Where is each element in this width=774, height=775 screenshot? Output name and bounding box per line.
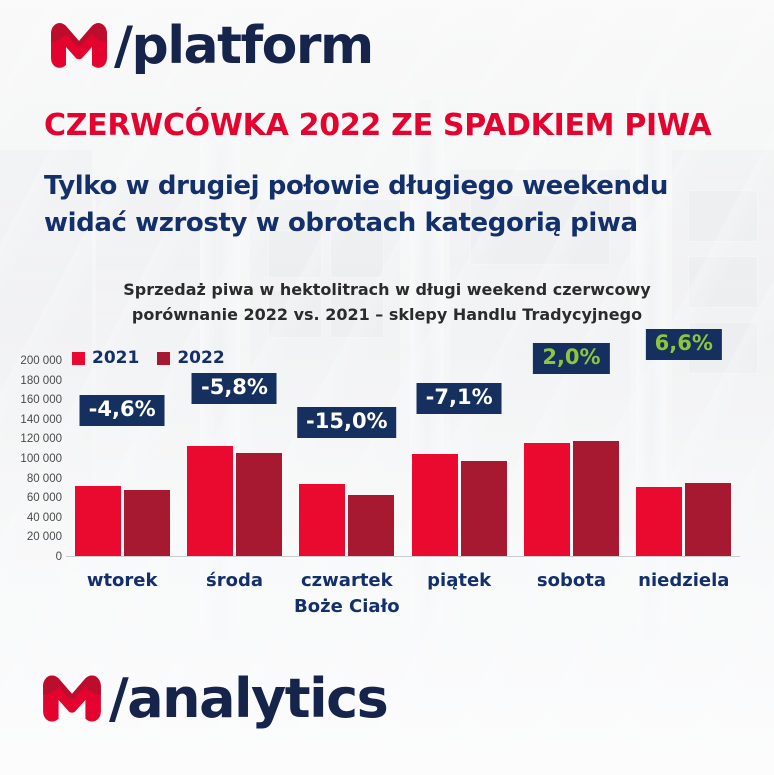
x-axis-label-main: środa: [206, 570, 263, 591]
brand-logo-analytics: /analytics: [40, 672, 387, 726]
page-headline: CZERWCÓWKA 2022 ZE SPADKIEM PIWA: [44, 108, 711, 143]
y-axis-tick: 120 000: [0, 433, 62, 445]
y-axis-tick: 180 000: [0, 375, 62, 387]
bar-2021[interactable]: [636, 487, 682, 556]
brand-logo-platform: /platform: [48, 20, 373, 72]
x-axis-label-sub: Boże Ciało: [291, 594, 403, 620]
bar-2022[interactable]: [236, 453, 282, 556]
y-axis-tick: 80 000: [0, 473, 62, 485]
x-axis-label-main: piątek: [427, 570, 491, 591]
change-badge: 6,6%: [646, 329, 722, 360]
change-badge: -15,0%: [297, 407, 397, 438]
brand-logo-word: /platform: [114, 20, 373, 72]
bar-2022[interactable]: [573, 441, 619, 556]
bar-2021[interactable]: [75, 486, 121, 556]
chart-bar-group: 2,0%: [515, 361, 627, 556]
m-logo-mark: [40, 672, 104, 726]
page-subheadline: Tylko w drugiej połowie długiego weekend…: [44, 168, 744, 242]
change-badge: 2,0%: [533, 343, 609, 374]
chart-x-axis-labels: wtorekśrodaczwartekBoże Ciałopiąteksobot…: [66, 568, 740, 620]
x-axis-label-main: wtorek: [87, 570, 158, 591]
bar-2022[interactable]: [348, 495, 394, 556]
beer-sales-bar-chart: 2021 2022 200 000180 000160 000140 00012…: [0, 340, 774, 640]
y-axis-tick: 160 000: [0, 394, 62, 406]
bar-2022[interactable]: [685, 483, 731, 556]
x-axis-label: sobota: [515, 568, 627, 620]
brand-logo-word: /analytics: [109, 672, 387, 726]
x-axis-label: czwartekBoże Ciało: [291, 568, 403, 620]
x-axis-label: wtorek: [66, 568, 178, 620]
chart-bar-group: -7,1%: [403, 361, 515, 556]
y-axis-tick: 0: [0, 551, 62, 563]
bar-2021[interactable]: [524, 443, 570, 556]
change-badge: -7,1%: [417, 383, 502, 414]
x-axis-label-main: czwartek: [301, 570, 393, 591]
bar-2021[interactable]: [299, 484, 345, 556]
chart-caption: Sprzedaż piwa w hektolitrach w długi wee…: [0, 278, 774, 328]
chart-caption-line-1: Sprzedaż piwa w hektolitrach w długi wee…: [0, 278, 774, 303]
x-axis-label-main: sobota: [537, 570, 606, 591]
chart-plot-area: -4,6%-5,8%-15,0%-7,1%2,0%6,6%: [66, 361, 740, 557]
chart-bar-group: -5,8%: [178, 361, 290, 556]
chart-caption-line-2: porównanie 2022 vs. 2021 – sklepy Handlu…: [0, 303, 774, 328]
bar-2021[interactable]: [412, 454, 458, 556]
y-axis-tick: 40 000: [0, 512, 62, 524]
y-axis-tick: 140 000: [0, 414, 62, 426]
y-axis-tick: 100 000: [0, 453, 62, 465]
change-badge: -4,6%: [80, 395, 165, 426]
chart-bar-group: -4,6%: [66, 361, 178, 556]
x-axis-label: niedziela: [628, 568, 740, 620]
bar-2021[interactable]: [187, 446, 233, 556]
y-axis-tick: 200 000: [0, 355, 62, 367]
chart-bar-groups: -4,6%-5,8%-15,0%-7,1%2,0%6,6%: [66, 361, 740, 556]
x-axis-label-main: niedziela: [638, 570, 729, 591]
y-axis-tick: 60 000: [0, 492, 62, 504]
y-axis-tick: 20 000: [0, 531, 62, 543]
chart-bar-group: -15,0%: [291, 361, 403, 556]
x-axis-label: piątek: [403, 568, 515, 620]
bar-2022[interactable]: [461, 461, 507, 556]
m-logo-mark: [48, 20, 110, 72]
x-axis-label: środa: [178, 568, 290, 620]
chart-y-axis: 200 000180 000160 000140 000120 000100 0…: [0, 340, 62, 570]
bar-2022[interactable]: [124, 490, 170, 556]
change-badge: -5,8%: [192, 373, 277, 404]
chart-bar-group: 6,6%: [628, 361, 740, 556]
